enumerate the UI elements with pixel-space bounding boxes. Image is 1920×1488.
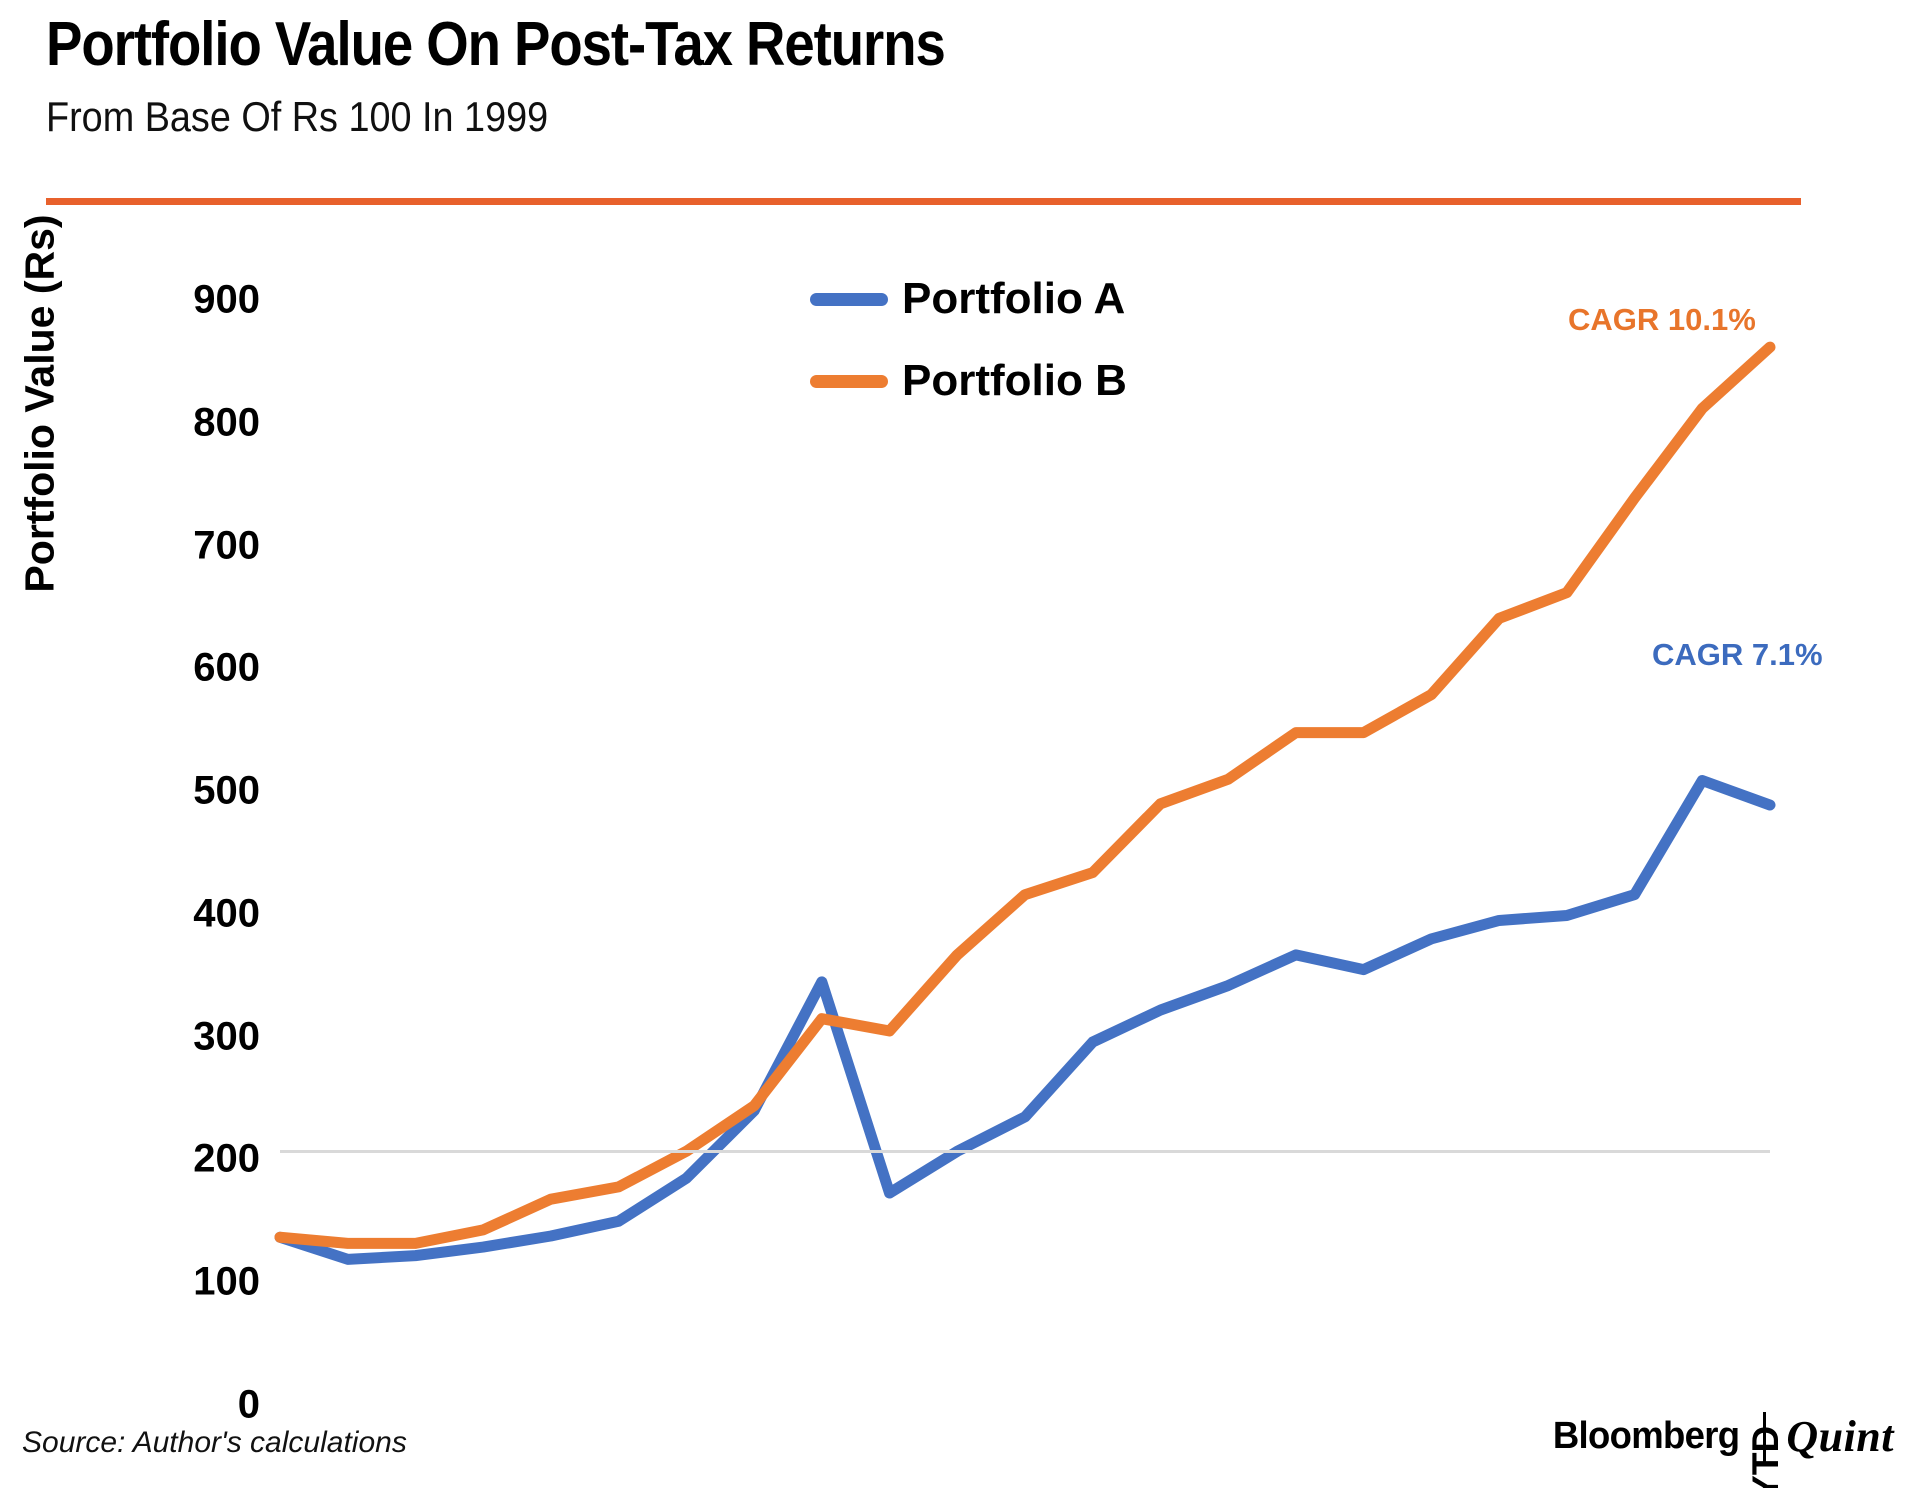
y-axis-title: Portfolio Value (Rs) xyxy=(17,124,64,684)
y-axis-tick-label: 200 xyxy=(110,1137,260,1182)
chart-page: Portfolio Value On Post-Tax Returns From… xyxy=(0,0,1920,1488)
chart-legend: Portfolio A Portfolio B xyxy=(810,258,1127,422)
page-title: Portfolio Value On Post-Tax Returns xyxy=(46,14,1621,76)
logo-bloomberg-text: Bloomberg xyxy=(1553,1415,1739,1458)
y-axis-tick-label: 900 xyxy=(110,278,260,323)
y-axis-tick-label: 800 xyxy=(110,400,260,445)
source-note: Source: Author's calculations xyxy=(22,1426,407,1460)
legend-label-portfolio-b: Portfolio B xyxy=(902,356,1127,406)
y-axis-ticks: 9008007006005004003002001000 xyxy=(100,210,260,1360)
y-axis-tick-label: 400 xyxy=(110,891,260,936)
y-axis-tick-label: 600 xyxy=(110,646,260,691)
y-axis-tick-label: 100 xyxy=(110,1260,260,1305)
page-subtitle: From Base Of Rs 100 In 1999 xyxy=(46,96,1657,138)
chart-header: Portfolio Value On Post-Tax Returns From… xyxy=(46,14,1836,138)
x-axis-line xyxy=(280,1150,1770,1153)
header-rule xyxy=(46,198,1801,205)
y-axis-tick-label: 300 xyxy=(110,1014,260,1059)
logo-quint-text: Quint xyxy=(1786,1411,1894,1462)
legend-swatch-portfolio-b xyxy=(810,375,888,388)
legend-item-portfolio-a[interactable]: Portfolio A xyxy=(810,258,1127,340)
annotation-cagr-portfolio-a: CAGR 7.1% xyxy=(1652,637,1823,673)
y-axis-tick-label: 0 xyxy=(110,1383,260,1428)
y-axis-tick-label: 700 xyxy=(110,523,260,568)
logo-divider-icon xyxy=(1763,1412,1766,1462)
legend-swatch-portfolio-a xyxy=(810,293,888,306)
annotation-cagr-portfolio-b: CAGR 10.1% xyxy=(1568,302,1756,338)
brand-logo: Bloomberg Quint xyxy=(1549,1411,1894,1462)
legend-item-portfolio-b[interactable]: Portfolio B xyxy=(810,340,1127,422)
x-axis-ticks: CY99CY00CY01CY02CY03CY04CY05CY06CY07CY08… xyxy=(280,1372,1770,1488)
legend-label-portfolio-a: Portfolio A xyxy=(902,274,1125,324)
series-line-portfolio-a xyxy=(280,780,1770,1259)
y-axis-tick-label: 500 xyxy=(110,769,260,814)
